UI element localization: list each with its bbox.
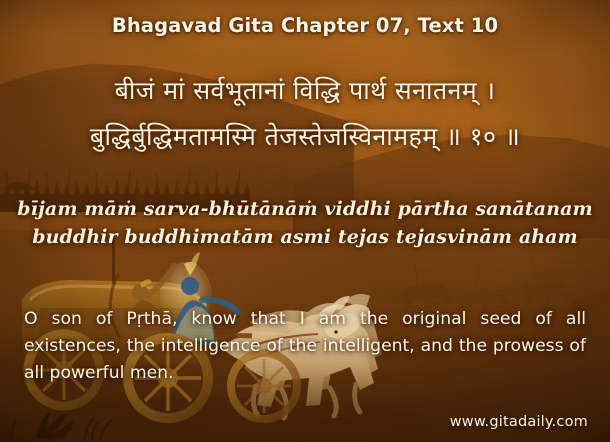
transliteration-line-1: bījam māṁ sarva-bhūtānāṁ viddhi pārtha s… <box>0 198 610 220</box>
english-translation: O son of Pṛthā, know that I am the origi… <box>24 306 586 387</box>
sanskrit-verse-line-1: बीजं मां सर्वभूतानां विद्धि पार्थ सनातनम… <box>0 78 610 103</box>
transliteration-line-2: buddhir buddhimatām asmi tejas tejasvinā… <box>0 226 610 248</box>
website-watermark: www.gitadaily.com <box>450 414 588 430</box>
page-title: Bhagavad Gita Chapter 07, Text 10 <box>0 14 610 37</box>
gita-verse-card: Bhagavad Gita Chapter 07, Text 10 बीजं म… <box>0 0 610 442</box>
sanskrit-verse-line-2: बुद्धिर्बुद्धिमतामस्मि तेजस्तेजस्विनामहम… <box>0 124 610 149</box>
